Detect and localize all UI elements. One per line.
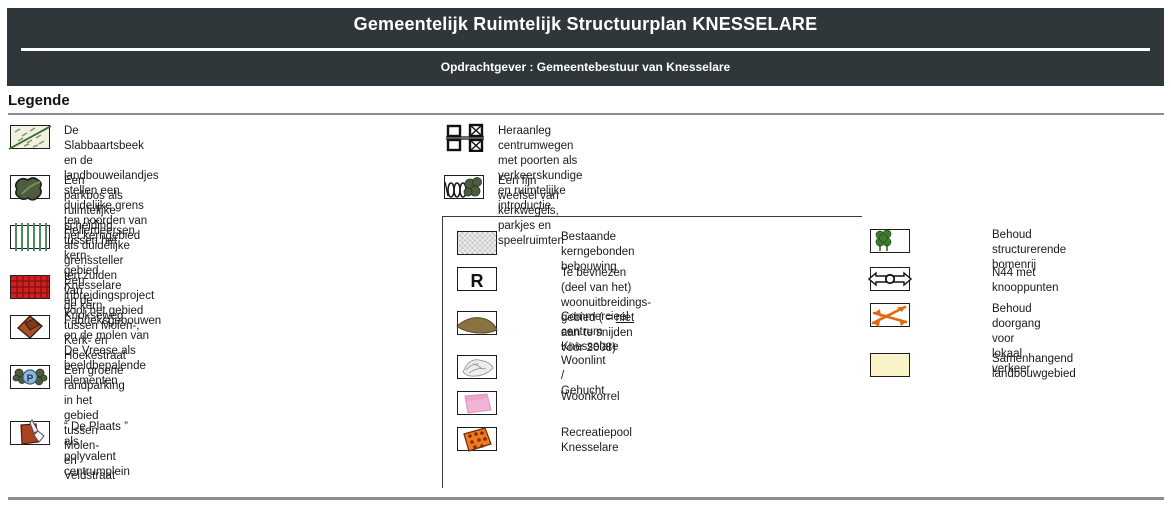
hatched-green-meadow-icon bbox=[8, 122, 52, 152]
red-grid-infill-icon bbox=[8, 272, 52, 302]
svg-text:R: R bbox=[471, 271, 484, 291]
page-title: Gemeentelijk Ruimtelijk Structuurplan KN… bbox=[7, 14, 1164, 35]
header-bar: Gemeentelijk Ruimtelijk Structuurplan KN… bbox=[7, 8, 1164, 86]
grey-crosshatch-built-area-icon bbox=[455, 228, 499, 258]
legend-row[interactable]: Woonkorrel bbox=[455, 388, 620, 418]
page-bottom-divider bbox=[8, 497, 1164, 500]
green-tree-row-icon bbox=[868, 226, 912, 256]
legend-label: Samenhangend landbouwgebied bbox=[924, 350, 1076, 382]
legend-top-divider bbox=[8, 113, 1164, 115]
dark-green-woodland-blob-icon bbox=[8, 172, 52, 202]
legend-label: Woonkorrel bbox=[511, 388, 620, 405]
legend-row[interactable]: Commercieel centrum Knesselare bbox=[455, 308, 629, 355]
legend-label: Commercieel centrum Knesselare bbox=[511, 308, 629, 355]
grey-ribbon-development-icon bbox=[455, 352, 499, 382]
footpaths-green-spaces-icon bbox=[442, 172, 486, 202]
orange-double-arrow-icon bbox=[868, 300, 912, 330]
brown-diamond-factory-icon bbox=[8, 312, 52, 342]
legend-label: Recreatiepool Knesselare bbox=[511, 424, 632, 456]
brown-commercial-centre-icon bbox=[455, 308, 499, 338]
header-subtitle: Opdrachtgever : Gemeentebestuur van Knes… bbox=[7, 60, 1164, 74]
n44-junction-arrow-icon bbox=[868, 264, 912, 294]
header-divider bbox=[21, 48, 1150, 51]
group-box-left-border bbox=[442, 216, 443, 488]
svg-text:P: P bbox=[27, 374, 34, 385]
green-parking-p-icon: P bbox=[8, 362, 52, 392]
legend-label: N44 met knooppunten bbox=[924, 264, 1059, 296]
legend-row[interactable]: “ De Plaats ” als polyvalent centrumplei… bbox=[8, 418, 130, 480]
legend-row[interactable]: N44 met knooppunten bbox=[868, 264, 1059, 296]
legend-heading: Legende bbox=[8, 92, 70, 109]
green-vertical-stripes-icon bbox=[8, 222, 52, 252]
legend-row[interactable]: Samenhangend landbouwgebied bbox=[868, 350, 1076, 382]
pink-housing-cluster-icon bbox=[455, 388, 499, 418]
brown-square-plaza-icon bbox=[8, 418, 52, 448]
gates-road-crossings-icon bbox=[442, 122, 486, 152]
legend-row[interactable]: Recreatiepool Knesselare bbox=[455, 424, 632, 456]
cream-agriculture-area-icon bbox=[868, 350, 912, 380]
letter-r-reserve-icon: R bbox=[455, 264, 499, 294]
legend-label: “ De Plaats ” als polyvalent centrumplei… bbox=[64, 418, 130, 480]
orange-recreation-pool-icon bbox=[455, 424, 499, 454]
